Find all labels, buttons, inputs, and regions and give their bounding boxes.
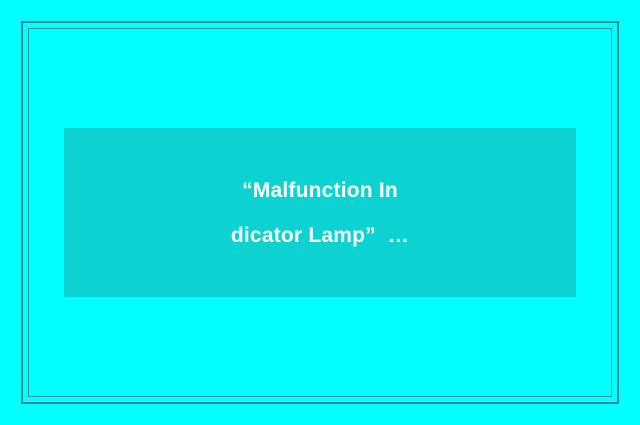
page-root: “Malfunction In dicator Lamp” … — [0, 0, 640, 425]
quote-text: “Malfunction In dicator Lamp” … — [231, 168, 409, 258]
quote-banner-card: “Malfunction In dicator Lamp” … — [64, 128, 576, 297]
